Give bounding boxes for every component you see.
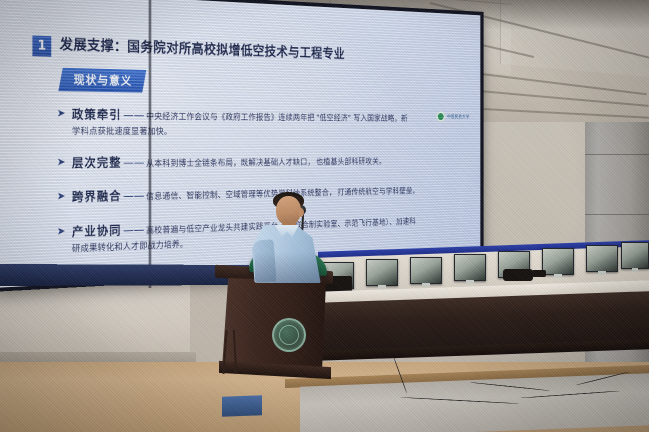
bullet-heading: 政策牵引 (72, 104, 122, 123)
speaker-person (253, 192, 331, 282)
slide-corner-logo: 中国民航大学 (436, 111, 469, 122)
bullet-arrow-icon: ➤ (57, 226, 66, 237)
slide-section-badge-label: 现状与意义 (74, 71, 133, 89)
slide-title: 发展支撑：国务院对所高校拟增低空技术与工程专业 (60, 37, 345, 63)
blue-floor-object (222, 395, 262, 416)
desk-monitor[interactable] (454, 254, 486, 281)
bullet-dash: —— (123, 108, 144, 121)
bullet-body-small: 也植基头部科研攻关。 (316, 156, 386, 169)
desk-monitor[interactable] (621, 242, 649, 269)
slide-title-row: 1 发展支撑：国务院对所高校拟增低空技术与工程专业 (32, 36, 457, 69)
speaker-ear (298, 208, 304, 217)
screen-lower-band (0, 264, 249, 286)
desk-monitor[interactable] (366, 259, 398, 286)
bullet-heading: 产业协同 (72, 220, 122, 240)
university-seal-icon (272, 318, 306, 352)
slide-number-badge: 1 (32, 36, 51, 57)
slide-logo-text: 中国民航大学 (447, 114, 469, 120)
slide-content: 1 发展支撑：国务院对所高校拟增低空技术与工程专业 现状与意义 ➤ 政策牵引 —… (0, 0, 482, 288)
bullet-dash: —— (123, 189, 144, 203)
bullet-dash: —— (123, 223, 144, 237)
bullet-body-small: "低空经济" 写入国家战略，新 (316, 112, 408, 125)
speaker-shading (255, 252, 321, 283)
slide-bullet: ➤ 层次完整 —— 从本科到博士全链条布局，既解决基础人才缺口， 也植基头部科研… (57, 150, 458, 173)
bullet-body-small: 打通传统航空与学科壁垒。 (337, 186, 419, 200)
bullet-body-line2: 学科点获批速度显著加快。 (72, 125, 408, 138)
desk-monitor[interactable] (586, 245, 618, 272)
bullet-arrow-icon: ➤ (57, 156, 66, 167)
bullet-heading: 跨界融合 (72, 186, 122, 205)
bullet-body: 从本科到博士全链条布局，既解决基础人才缺口， (146, 156, 315, 170)
desk-equipment-unit (503, 269, 533, 281)
led-presentation-screen[interactable]: 1 发展支撑：国务院对所高校拟增低空技术与工程专业 现状与意义 ➤ 政策牵引 —… (0, 0, 482, 288)
bullet-dash: —— (123, 156, 144, 169)
desk-equipment-unit (532, 270, 546, 277)
bullet-arrow-icon: ➤ (57, 108, 66, 119)
slide-section-badge: 现状与意义 (58, 68, 146, 93)
screen-surface: 1 发展支撑：国务院对所高校拟增低空技术与工程专业 现状与意义 ➤ 政策牵引 —… (0, 0, 482, 288)
conference-desk (318, 246, 649, 376)
university-emblem-icon (436, 111, 445, 122)
bullet-heading: 层次完整 (72, 152, 122, 171)
bullet-body: 中央经济工作会议与《政府工作报告》连续两年把 (146, 111, 315, 125)
desk-monitor[interactable] (410, 257, 442, 284)
chair (222, 330, 240, 378)
lecture-hall-photo: 1 发展支撑：国务院对所高校拟增低空技术与工程专业 现状与意义 ➤ 政策牵引 —… (0, 0, 649, 432)
desk-monitor[interactable] (542, 248, 574, 275)
bullet-arrow-icon: ➤ (57, 191, 66, 202)
slide-bullet: ➤ 政策牵引 —— 中央经济工作会议与《政府工作报告》连续两年把 "低空经济" … (57, 104, 458, 139)
